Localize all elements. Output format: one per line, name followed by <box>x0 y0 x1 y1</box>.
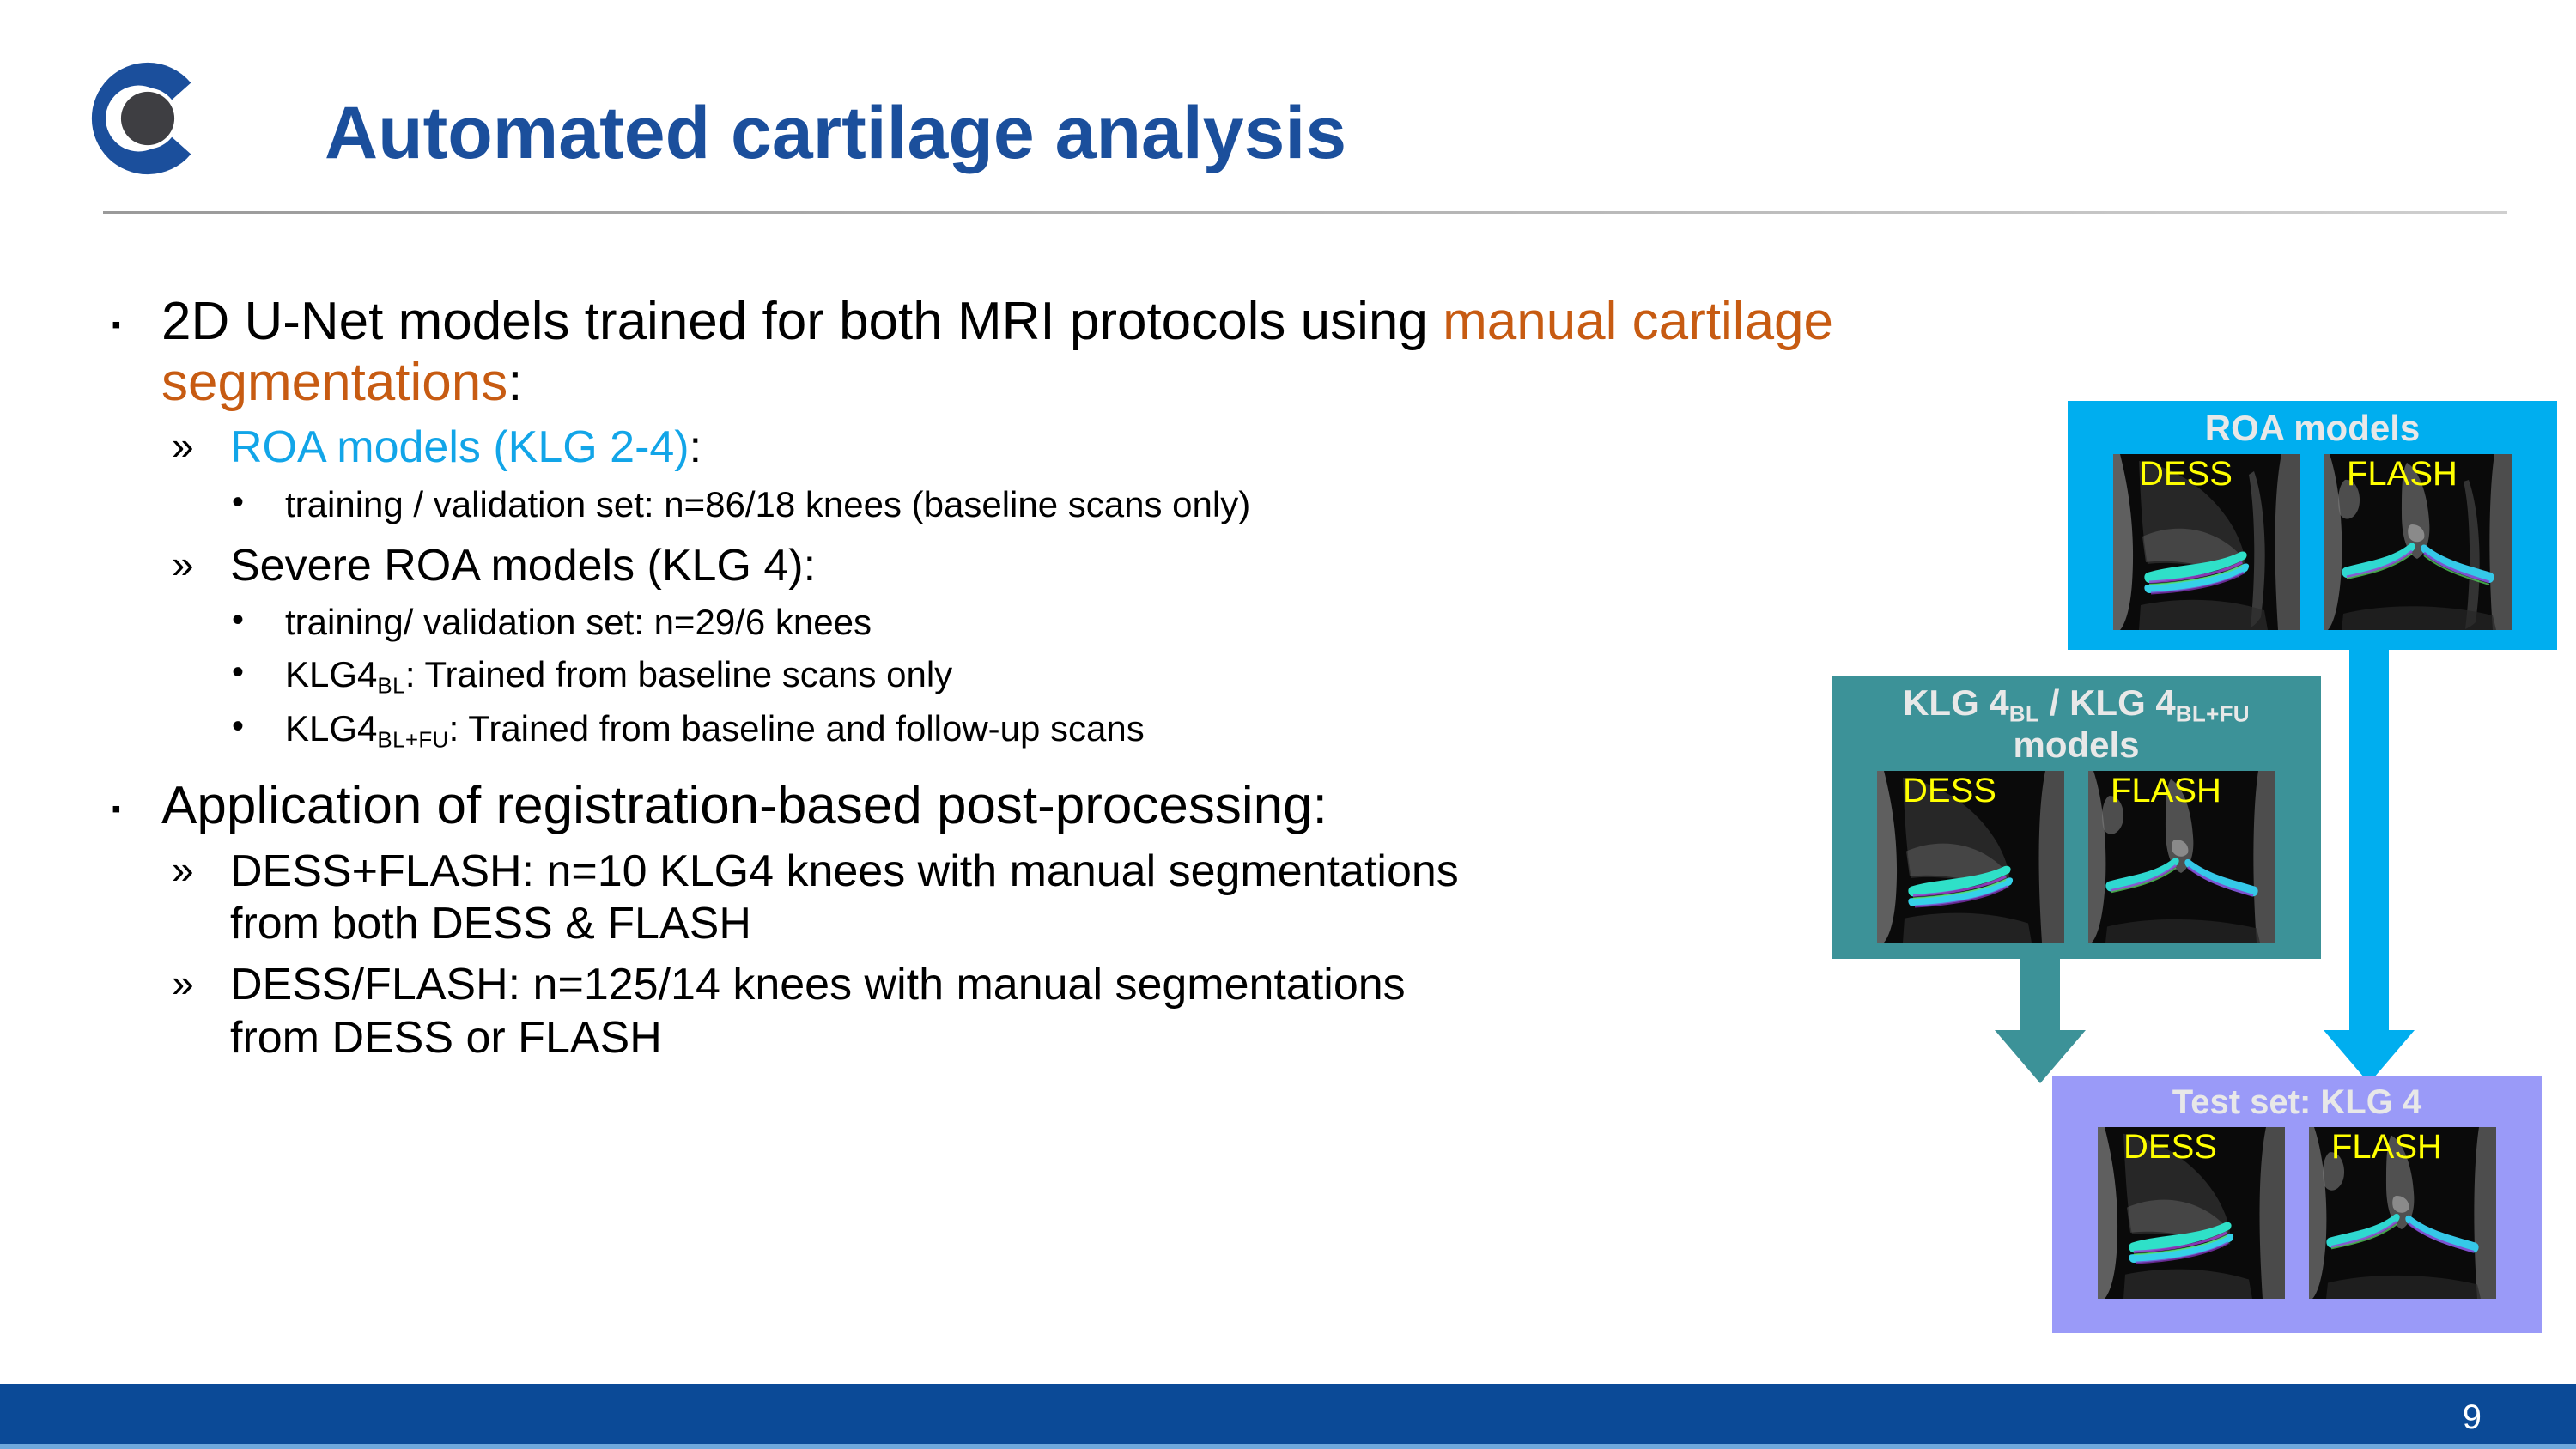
square-bullet-icon: ▪ <box>112 776 161 822</box>
klg4-bl-desc: : Trained from baseline scans only <box>405 654 952 694</box>
dess-label: DESS <box>2113 456 2300 492</box>
knee-mri-coronal-flash-image: FLASH <box>2309 1127 2496 1299</box>
dess-plus-flash-line1: DESS+FLASH: n=10 KLG4 knees with manual … <box>230 846 1459 896</box>
klg4-models-box-title: KLG 4BL / KLG 4BL+FUmodels <box>1832 676 2321 764</box>
institution-c-logo-icon <box>84 53 211 184</box>
square-bullet-icon: ▪ <box>112 292 161 338</box>
chevron-bullet-icon: » <box>172 959 230 1003</box>
knee-mri-coronal-flash-image: FLASH <box>2324 454 2512 630</box>
dot-bullet-icon: • <box>232 707 285 743</box>
sub-bullet-roa-models: » ROA models (KLG 2-4): <box>112 421 2001 474</box>
sub-bullet-severe-roa-text: Severe ROA models (KLG 4): <box>230 540 2001 592</box>
klg4-blfu-desc: : Trained from baseline and follow-up sc… <box>449 708 1145 749</box>
dot-bullet-icon: • <box>232 483 285 519</box>
klg4-title-sub-bl: BL <box>2009 700 2039 726</box>
sub-bullet-roa-text: ROA models (KLG 2-4): <box>230 421 2001 474</box>
klg4-title-sub-blfu: BL+FU <box>2176 700 2250 726</box>
bullet1-segment-a: 2D U-Net models trained for both MRI pro… <box>161 292 1443 351</box>
slide-canvas: Automated cartilage analysis ▪ 2D U-Net … <box>0 0 2576 1449</box>
sub-bullet-severe-roa-models: » Severe ROA models (KLG 4): <box>112 540 2001 592</box>
detail-roa-training-set: • training / validation set: n=86/18 kne… <box>112 483 2001 526</box>
detail-severe-training-set: • training/ validation set: n=29/6 knees <box>112 601 2001 644</box>
flash-label: FLASH <box>2088 773 2275 809</box>
sub-bullet-dess-or-flash-text: DESS/FLASH: n=125/14 knees with manual s… <box>230 959 2001 1064</box>
detail-klg4-blfu: • KLG4BL+FU: Trained from baseline and f… <box>112 707 2001 754</box>
header-divider <box>103 211 2507 214</box>
knee-mri-coronal-flash-image: FLASH <box>2088 771 2275 943</box>
footer-bar: 9 <box>0 1384 2576 1449</box>
sub-bullet-dess-or-flash: » DESS/FLASH: n=125/14 knees with manual… <box>112 959 2001 1064</box>
chevron-bullet-icon: » <box>172 846 230 889</box>
knee-mri-sagittal-dess-image: DESS <box>1877 771 2064 943</box>
test-set-box: Test set: KLG 4 <box>2052 1076 2542 1333</box>
klg4-title-a: KLG 4 <box>1903 682 2009 723</box>
chevron-bullet-icon: » <box>172 421 230 465</box>
dess-label: DESS <box>2098 1129 2285 1165</box>
klg4-bl-subscript: BL <box>377 672 404 698</box>
klg4-models-box: KLG 4BL / KLG 4BL+FUmodels <box>1832 676 2321 959</box>
test-set-box-title: Test set: KLG 4 <box>2052 1076 2542 1120</box>
roa-models-image-row: DESS <box>2068 454 2557 630</box>
bullet-level1-text: 2D U-Net models trained for both MRI pro… <box>161 292 2001 413</box>
detail-severe-training-set-text: training/ validation set: n=29/6 knees <box>285 601 2001 644</box>
dess-plus-flash-line2: from both DESS & FLASH <box>230 899 751 949</box>
roa-models-box-title: ROA models <box>2068 401 2557 447</box>
bullet-level1-postprocessing-text: Application of registration-based post-p… <box>161 776 2001 837</box>
flash-label: FLASH <box>2309 1129 2496 1165</box>
arrow-roa-to-test <box>2324 644 2415 1083</box>
klg4-bl-name: KLG4 <box>285 654 377 694</box>
dess-or-flash-line1: DESS/FLASH: n=125/14 knees with manual s… <box>230 960 1406 1009</box>
detail-klg4-blfu-text: KLG4BL+FU: Trained from baseline and fol… <box>285 707 2001 754</box>
dot-bullet-icon: • <box>232 653 285 689</box>
sub-bullet-dess-plus-flash: » DESS+FLASH: n=10 KLG4 knees with manua… <box>112 846 2001 951</box>
bullet-level1-models: ▪ 2D U-Net models trained for both MRI p… <box>112 292 2001 413</box>
page-number: 9 <box>2463 1398 2482 1437</box>
workflow-diagram: ROA models <box>1803 386 2576 1365</box>
knee-mri-sagittal-dess-image: DESS <box>2098 1127 2285 1299</box>
test-set-image-row: DESS <box>2052 1127 2542 1299</box>
klg4-models-image-row: DESS <box>1832 771 2321 943</box>
chevron-bullet-icon: » <box>172 540 230 584</box>
bullet-level1-postprocessing: ▪ Application of registration-based post… <box>112 776 2001 837</box>
sub-bullet-dess-plus-flash-text: DESS+FLASH: n=10 KLG4 knees with manual … <box>230 846 2001 951</box>
dess-or-flash-line2: from DESS or FLASH <box>230 1013 662 1063</box>
roa-models-label: ROA models (KLG 2-4) <box>230 422 690 472</box>
detail-klg4-bl-text: KLG4BL: Trained from baseline scans only <box>285 653 2001 700</box>
arrow-klg-to-test <box>1995 953 2086 1083</box>
detail-roa-training-set-text: training / validation set: n=86/18 knees… <box>285 483 2001 526</box>
dot-bullet-icon: • <box>232 601 285 637</box>
knee-mri-sagittal-dess-image: DESS <box>2113 454 2300 630</box>
dess-label: DESS <box>1877 773 2064 809</box>
klg4-blfu-name: KLG4 <box>285 708 377 749</box>
page-title: Automated cartilage analysis <box>325 94 1784 172</box>
flash-label: FLASH <box>2324 456 2512 492</box>
klg4-title-models: models <box>2013 724 2139 765</box>
klg4-blfu-subscript: BL+FU <box>377 727 448 753</box>
klg4-title-mid: / KLG 4 <box>2039 682 2176 723</box>
footer-underline <box>0 1444 2576 1449</box>
roa-models-colon: : <box>690 422 702 472</box>
detail-klg4-bl: • KLG4BL: Trained from baseline scans on… <box>112 653 2001 700</box>
roa-models-box: ROA models <box>2068 401 2557 650</box>
slide-body: ▪ 2D U-Net models trained for both MRI p… <box>112 292 2001 1066</box>
bullet1-segment-c: : <box>507 353 522 412</box>
